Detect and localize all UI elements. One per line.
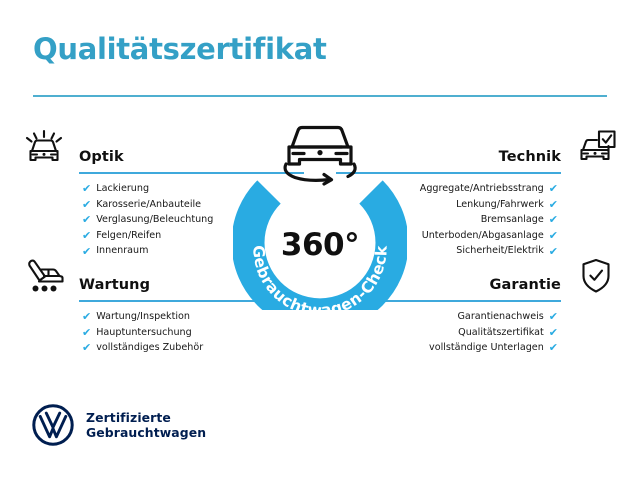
list-item-label: Wartung/Inspektion: [96, 309, 190, 325]
footer-brand: Zertifizierte Gebrauchtwagen: [32, 404, 206, 446]
section-title: Optik: [79, 149, 124, 165]
certificate-page: Qualitätszertifikat: [0, 0, 640, 480]
check-icon: ✔: [549, 214, 558, 225]
list-item-label: Hauptuntersuchung: [96, 325, 191, 341]
volkswagen-logo: [32, 404, 74, 446]
list-item: ✔ Hauptuntersuchung: [22, 325, 272, 341]
list-item: ✔ Garantienachweis: [368, 309, 618, 325]
car-checkbox-icon: [574, 128, 618, 168]
car-shine-icon: [22, 128, 66, 168]
footer-line-2: Gebrauchtwagen: [86, 425, 206, 440]
check-icon: ✔: [549, 342, 558, 353]
list-item-label: vollständige Unterlagen: [429, 340, 544, 356]
check-icon: ✔: [549, 327, 558, 338]
section-title: Technik: [499, 149, 561, 165]
list-item-label: Lenkung/Fahrwerk: [456, 197, 544, 213]
list-item-label: Felgen/Reifen: [96, 228, 161, 244]
check-icon: ✔: [82, 230, 91, 241]
list-item-label: Aggregate/Antriebsstrang: [420, 181, 544, 197]
list-item: ✔ Wartung/Inspektion: [22, 309, 272, 325]
page-title: Qualitätszertifikat: [33, 32, 327, 66]
footer-line-1: Zertifizierte: [86, 410, 206, 425]
check-icon: ✔: [549, 199, 558, 210]
check-icon: ✔: [82, 342, 91, 353]
list-item: ✔ Qualitätszertifikat: [368, 325, 618, 341]
list-item-label: Karosserie/Anbauteile: [96, 197, 201, 213]
section-title: Wartung: [79, 277, 150, 293]
check-icon: ✔: [549, 230, 558, 241]
section-title: Garantie: [490, 277, 561, 293]
checklist-wartung: ✔ Wartung/Inspektion ✔ Hauptuntersuchung…: [22, 302, 272, 356]
badge-center-label: 360°: [233, 227, 407, 263]
check-icon: ✔: [82, 214, 91, 225]
title-divider: [33, 95, 607, 97]
list-item-label: Unterboden/Abgasanlage: [422, 228, 544, 244]
list-item: ✔ vollständiges Zubehör: [22, 340, 272, 356]
list-item-label: Verglasung/Beleuchtung: [96, 212, 213, 228]
list-item-label: Lackierung: [96, 181, 149, 197]
footer-brand-text: Zertifizierte Gebrauchtwagen: [86, 410, 206, 440]
check-icon: ✔: [82, 311, 91, 322]
check-icon: ✔: [82, 327, 91, 338]
gebrauchtwagen-check-badge: Gebrauchtwagen-Check 360°: [233, 120, 407, 310]
list-item-label: Bremsanlage: [481, 212, 544, 228]
shield-check-icon: [574, 256, 618, 296]
list-item-label: Garantienachweis: [458, 309, 544, 325]
list-item-label: vollständiges Zubehör: [96, 340, 203, 356]
checklist-garantie: ✔ Garantienachweis ✔ Qualitätszertifikat…: [368, 302, 618, 356]
check-icon: ✔: [82, 199, 91, 210]
wrench-car-icon: [22, 256, 66, 296]
check-icon: ✔: [549, 311, 558, 322]
list-item-label: Qualitätszertifikat: [458, 325, 544, 341]
check-icon: ✔: [82, 183, 91, 194]
list-item: ✔ vollständige Unterlagen: [368, 340, 618, 356]
check-icon: ✔: [549, 183, 558, 194]
